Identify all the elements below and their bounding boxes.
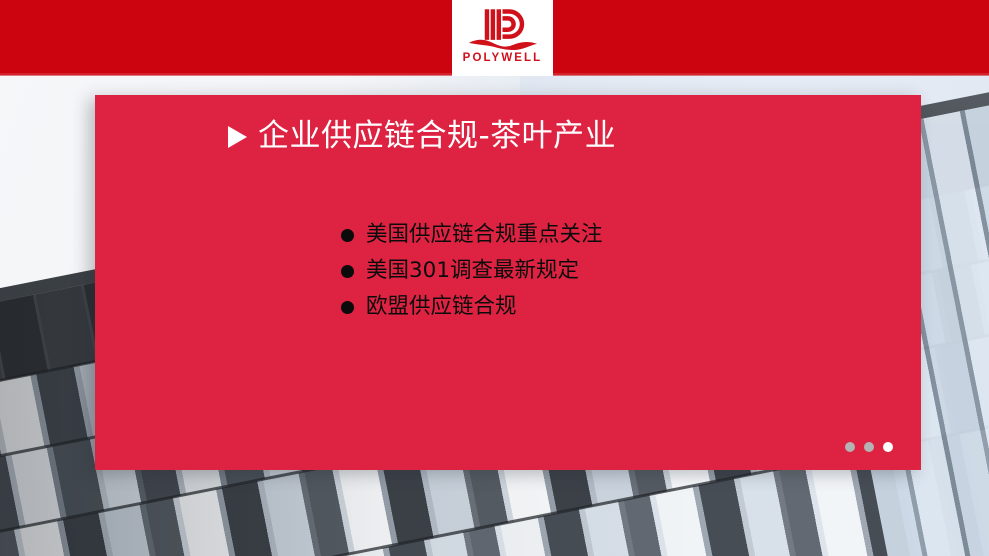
- bullet-text: 美国301调查最新规定: [366, 260, 579, 282]
- slide-title-text: 企业供应链合规-茶叶产业: [258, 121, 616, 152]
- brand-logo[interactable]: POLYWELL: [452, 0, 553, 76]
- pagination-dot-active[interactable]: [883, 442, 893, 452]
- bullet-dot-icon: [341, 301, 354, 314]
- slide-title: 企业供应链合规-茶叶产业: [228, 121, 616, 152]
- content-card: 企业供应链合规-茶叶产业 美国供应链合规重点关注 美国301调查最新规定 欧盟供…: [95, 95, 921, 470]
- bullet-text: 美国供应链合规重点关注: [366, 224, 603, 246]
- brand-wordmark: POLYWELL: [463, 53, 543, 65]
- bullet-dot-icon: [341, 229, 354, 242]
- bullet-dot-icon: [341, 265, 354, 278]
- slide-pagination[interactable]: [845, 442, 893, 452]
- list-item: 欧盟供应链合规: [341, 289, 603, 325]
- triangle-right-icon: [228, 126, 247, 148]
- bullet-list: 美国供应链合规重点关注 美国301调查最新规定 欧盟供应链合规: [341, 217, 603, 325]
- polywell-p-logo-icon: [466, 6, 540, 52]
- list-item: 美国供应链合规重点关注: [341, 217, 603, 253]
- list-item: 美国301调查最新规定: [341, 253, 603, 289]
- presentation-slide: POLYWELL 企业供应链合规-茶叶产业 美国供应链合规重点关注 美国301调…: [0, 0, 989, 556]
- pagination-dot[interactable]: [845, 442, 855, 452]
- bullet-text: 欧盟供应链合规: [366, 296, 517, 318]
- pagination-dot[interactable]: [864, 442, 874, 452]
